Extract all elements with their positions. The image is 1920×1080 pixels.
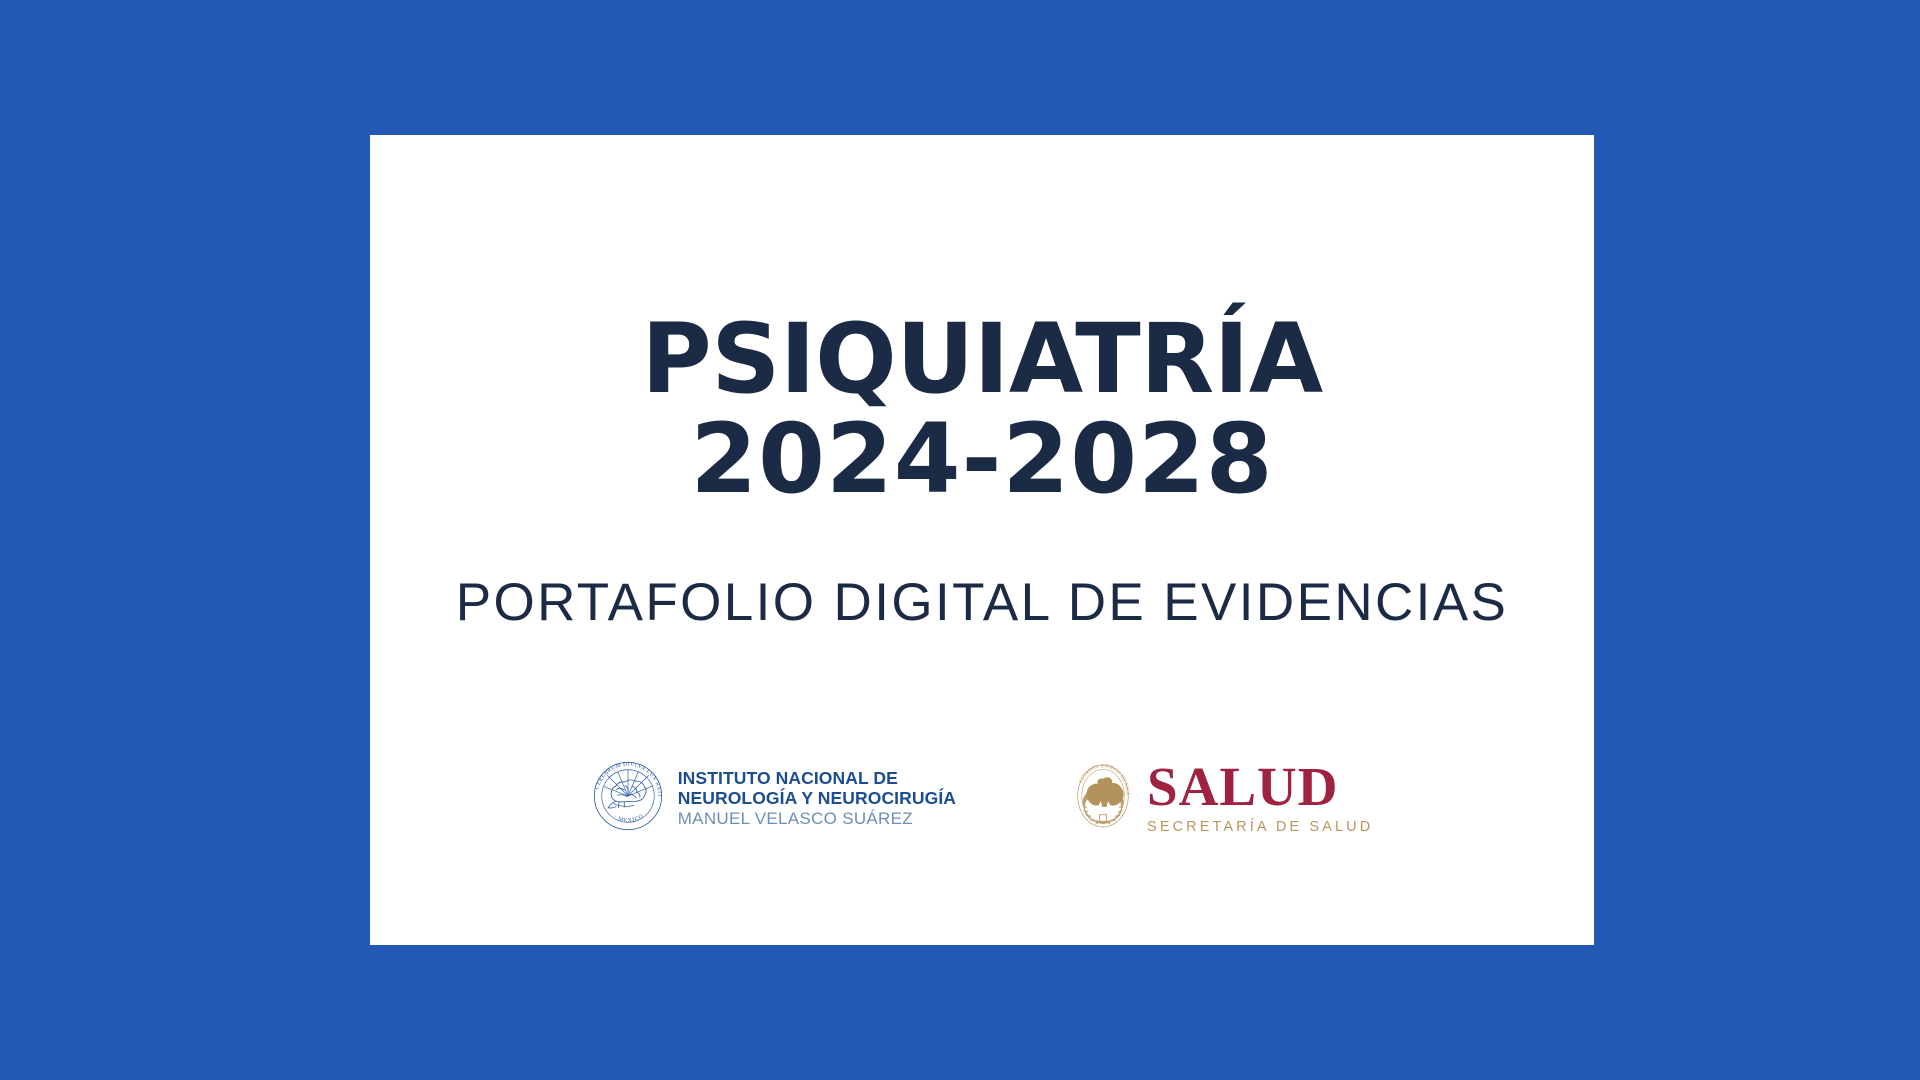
innn-wordmark: INSTITUTO NACIONAL DE NEUROLOGÍA Y NEURO… — [678, 768, 956, 829]
logo-innn: CEREBRUM DIVINA LUX RATIO SALUS SCIENTIA… — [591, 759, 956, 838]
slide-title: PSIQUIATRÍA 2024-2028 — [641, 310, 1322, 510]
svg-text:· MEXICO ·: · MEXICO · — [612, 810, 649, 824]
salud-tagline: SECRETARÍA DE SALUD — [1147, 819, 1373, 835]
slide-card: PSIQUIATRÍA 2024-2028 PORTAFOLIO DIGITAL… — [370, 135, 1594, 945]
logo-row: CEREBRUM DIVINA LUX RATIO SALUS SCIENTIA… — [591, 758, 1374, 839]
title-line-1: PSIQUIATRÍA — [641, 310, 1322, 410]
innn-line-3: MANUEL VELASCO SUÁREZ — [678, 809, 956, 829]
slide-subtitle: PORTAFOLIO DIGITAL DE EVIDENCIAS — [456, 572, 1509, 633]
innn-line-1: INSTITUTO NACIONAL DE — [678, 768, 956, 788]
svg-text:CEREBRUM DIVINA LUX RATIO SALU: CEREBRUM DIVINA LUX RATIO SALUS SCIENTIA… — [591, 759, 662, 797]
title-line-2: 2024-2028 — [641, 410, 1322, 510]
salud-word: SALUD — [1147, 761, 1373, 814]
mexican-national-seal-icon: ESTADOS UNIDOS MEXICANOS — [1072, 758, 1134, 839]
slide-background: PSIQUIATRÍA 2024-2028 PORTAFOLIO DIGITAL… — [0, 0, 1920, 1080]
innn-seal-icon: CEREBRUM DIVINA LUX RATIO SALUS SCIENTIA… — [591, 759, 665, 838]
logo-salud: ESTADOS UNIDOS MEXICANOS SALUD SECRETARÍ… — [1072, 758, 1373, 839]
innn-line-2: NEUROLOGÍA Y NEUROCIRUGÍA — [678, 788, 956, 808]
salud-wordmark: SALUD SECRETARÍA DE SALUD — [1147, 761, 1373, 835]
